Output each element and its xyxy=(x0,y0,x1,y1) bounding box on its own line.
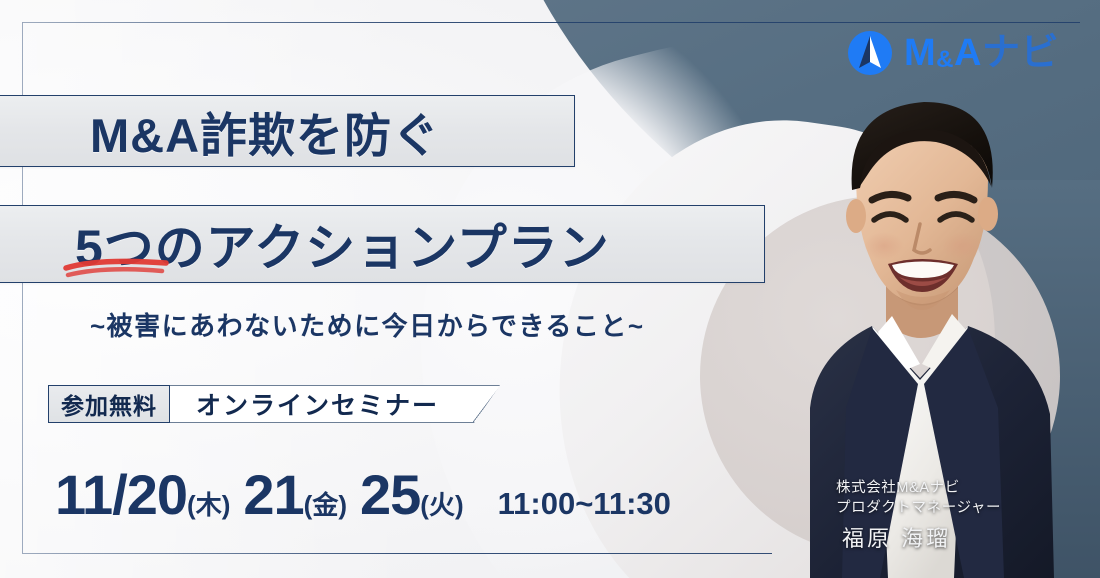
logo-text-a: A xyxy=(954,32,982,74)
date-3: 25 xyxy=(360,462,420,527)
weekday-3: (火) xyxy=(420,485,463,522)
frame-line-top xyxy=(22,22,1080,23)
badge-row: 参加無料 オンラインセミナー xyxy=(48,385,500,423)
m-and-a-navi-arrow-icon xyxy=(845,28,895,78)
frame-line-bottom xyxy=(22,553,772,554)
title-band-secondary: 5つのアクションプラン xyxy=(0,205,765,283)
presenter-name: 福原 海瑠 xyxy=(836,524,1001,554)
date-2: 21 xyxy=(243,462,303,527)
schedule-row: 11/20 (木) 21 (金) 25 (火) 11:00~11:30 xyxy=(55,462,671,527)
title-line-2: 5つのアクションプラン xyxy=(0,208,610,280)
presenter-company: 株式会社M&Aナビ xyxy=(836,478,1001,498)
badge-free-entry: 参加無料 xyxy=(48,385,170,423)
time-range: 11:00~11:30 xyxy=(498,486,671,522)
badge-online-seminar: オンラインセミナー xyxy=(170,385,500,423)
title-band-primary: M&A詐欺を防ぐ xyxy=(0,95,575,167)
logo-text-m: M xyxy=(904,32,936,74)
subtitle-text: ~被害にあわないために今日からできること~ xyxy=(90,306,645,343)
presenter-role: プロダクトマネージャー xyxy=(836,498,1001,518)
title-line-1: M&A詐欺を防ぐ xyxy=(0,97,440,166)
logo-text-amp: & xyxy=(936,46,954,73)
presenter-caption: 株式会社M&Aナビ プロダクトマネージャー 福原 海瑠 xyxy=(836,478,1001,554)
seminar-banner: M&Aナビ M&A詐欺を防ぐ 5つのアクションプラン ~被害にあわないために今日… xyxy=(0,0,1100,578)
weekday-2: (金) xyxy=(304,485,347,522)
weekday-1: (木) xyxy=(187,485,230,522)
logo-text-kana: ナビ xyxy=(982,32,1059,74)
date-1: 11/20 xyxy=(55,462,187,527)
brand-logo: M&Aナビ xyxy=(845,28,1059,78)
brand-wordmark: M&Aナビ xyxy=(904,34,1059,72)
